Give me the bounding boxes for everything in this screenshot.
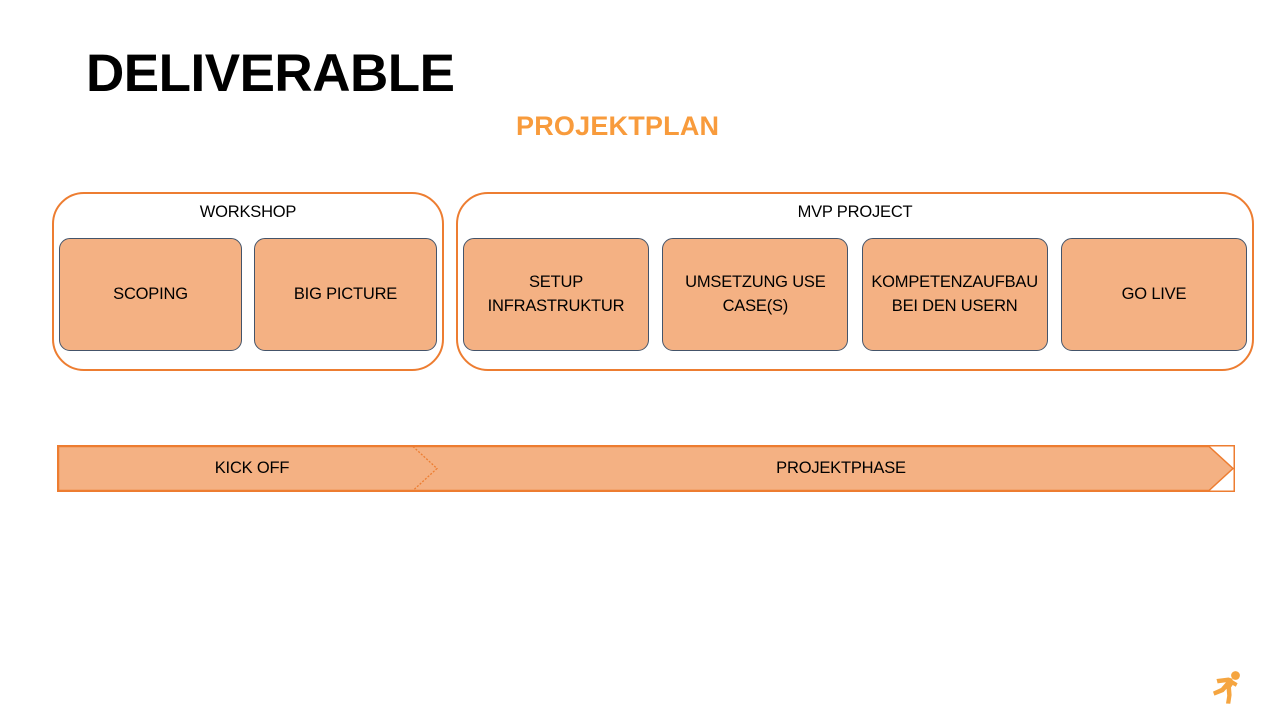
phase-group-workshop: WORKSHOP SCOPING BIG PICTURE [52, 192, 444, 371]
phase-box-row: SCOPING BIG PICTURE [54, 238, 442, 351]
timeline-arrow-band: KICK OFF PROJEKTPHASE [57, 445, 1235, 492]
page-title: DELIVERABLE [86, 47, 454, 100]
timeline-segment-projektphase[interactable]: PROJEKTPHASE [447, 445, 1235, 492]
slide-canvas: DELIVERABLE PROJEKTPLAN WORKSHOP SCOPING… [0, 0, 1280, 720]
phase-box-setup-infrastruktur[interactable]: SETUP INFRASTRUKTUR [463, 238, 649, 351]
timeline-segment-kick-off[interactable]: KICK OFF [57, 445, 447, 492]
phase-box-scoping[interactable]: SCOPING [59, 238, 242, 351]
phase-box-go-live[interactable]: GO LIVE [1061, 238, 1247, 351]
phase-box-row: SETUP INFRASTRUKTUR UMSETZUNG USE CASE(S… [458, 238, 1252, 351]
phase-group-label: MVP PROJECT [458, 203, 1252, 222]
phase-box-kompetenzaufbau[interactable]: KOMPETENZAUFBAU BEI DEN USERN [862, 238, 1048, 351]
running-figure-logo-icon [1204, 664, 1250, 710]
phase-box-umsetzung-use-cases[interactable]: UMSETZUNG USE CASE(S) [662, 238, 848, 351]
page-subtitle: PROJEKTPLAN [516, 113, 719, 140]
phase-group-label: WORKSHOP [54, 203, 442, 222]
phase-box-big-picture[interactable]: BIG PICTURE [254, 238, 437, 351]
phase-group-mvp-project: MVP PROJECT SETUP INFRASTRUKTUR UMSETZUN… [456, 192, 1254, 371]
